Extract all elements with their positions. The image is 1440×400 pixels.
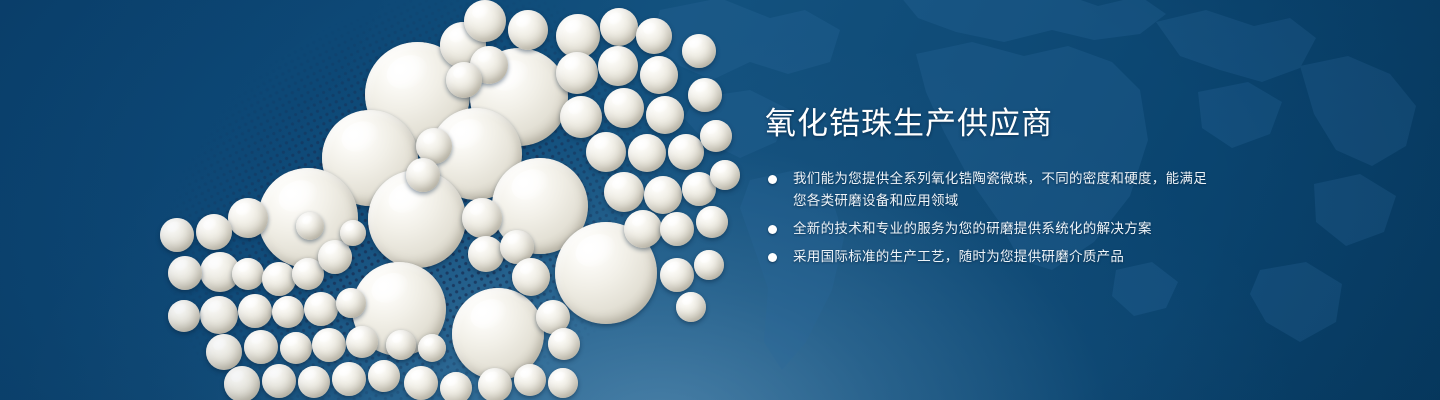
background-vignette [0,0,1440,400]
bullet-dot-icon [768,175,777,184]
list-item-label: 我们能为您提供全系列氧化锆陶瓷微珠，不同的密度和硬度，能满足您各类研磨设备和应用… [793,168,1215,212]
list-item: 我们能为您提供全系列氧化锆陶瓷微珠，不同的密度和硬度，能满足您各类研磨设备和应用… [765,168,1215,212]
page-title: 氧化锆珠生产供应商 [765,104,1215,144]
list-item: 全新的技术和专业的服务为您的研磨提供系统化的解决方案 [765,218,1215,240]
list-item-label: 采用国际标准的生产工艺，随时为您提供研磨介质产品 [793,246,1215,268]
list-item: 采用国际标准的生产工艺，随时为您提供研磨介质产品 [765,246,1215,268]
hero-copy: 氧化锆珠生产供应商 我们能为您提供全系列氧化锆陶瓷微珠，不同的密度和硬度，能满足… [765,104,1215,268]
feature-list: 我们能为您提供全系列氧化锆陶瓷微珠，不同的密度和硬度，能满足您各类研磨设备和应用… [765,168,1215,268]
bullet-dot-icon [768,253,777,262]
list-item-label: 全新的技术和专业的服务为您的研磨提供系统化的解决方案 [793,218,1215,240]
bullet-dot-icon [768,225,777,234]
hero-banner: 氧化锆珠生产供应商 我们能为您提供全系列氧化锆陶瓷微珠，不同的密度和硬度，能满足… [0,0,1440,400]
